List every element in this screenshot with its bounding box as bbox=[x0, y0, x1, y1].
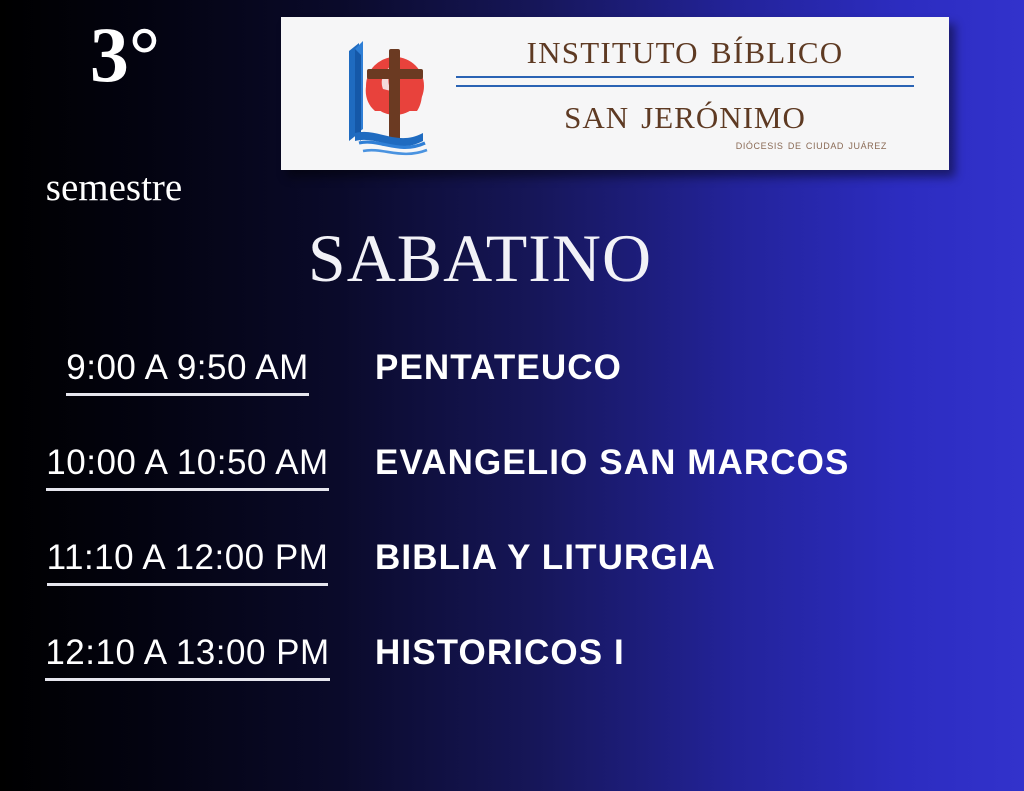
schedule-time-cell: 10:00 A 10:50 AM bbox=[0, 437, 375, 491]
schedule-time-text: 9:00 A 9:50 AM bbox=[66, 348, 308, 396]
schedule-list: 9:00 A 9:50 AM PENTATEUCO 10:00 A 10:50 … bbox=[0, 342, 1024, 722]
schedule-time-text: 11:10 A 12:00 PM bbox=[47, 538, 329, 586]
schedule-row: 9:00 A 9:50 AM PENTATEUCO bbox=[0, 342, 1024, 437]
schedule-time-cell: 12:10 A 13:00 PM bbox=[0, 627, 375, 681]
logo-subtitle-diocese: Diócesis de Ciudad Juárez bbox=[431, 137, 939, 153]
open-book-cross-flame-emblem bbox=[325, 29, 447, 161]
schedule-time-text: 10:00 A 10:50 AM bbox=[46, 443, 328, 491]
schedule-time-text: 12:10 A 13:00 PM bbox=[45, 633, 329, 681]
schedule-subject-cell: PENTATEUCO bbox=[375, 342, 1024, 388]
logo-text-block: Instituto Bíblico San Jerónimo Diócesis … bbox=[431, 23, 939, 166]
page-title: SABATINO bbox=[0, 224, 960, 292]
schedule-subject-cell: BIBLIA Y LITURGIA bbox=[375, 532, 1024, 578]
schedule-time-cell: 11:10 A 12:00 PM bbox=[0, 532, 375, 586]
schedule-row: 12:10 A 13:00 PM HISTORICOS I bbox=[0, 627, 1024, 722]
schedule-time-cell: 9:00 A 9:50 AM bbox=[0, 342, 375, 396]
semester-label: semestre bbox=[0, 168, 228, 207]
slide-canvas: 3° semestre Instit bbox=[0, 0, 1024, 791]
institute-logo-card: Instituto Bíblico San Jerónimo Diócesis … bbox=[281, 17, 949, 170]
logo-line-san-jeronimo: San Jerónimo bbox=[431, 89, 939, 139]
schedule-subject-cell: EVANGELIO SAN MARCOS bbox=[375, 437, 1024, 483]
semester-number: 3° bbox=[0, 16, 250, 94]
schedule-row: 10:00 A 10:50 AM EVANGELIO SAN MARCOS bbox=[0, 437, 1024, 532]
logo-line-instituto-biblico: Instituto Bíblico bbox=[431, 23, 939, 75]
schedule-subject-cell: HISTORICOS I bbox=[375, 627, 1024, 673]
logo-double-rule bbox=[456, 76, 913, 87]
schedule-row: 11:10 A 12:00 PM BIBLIA Y LITURGIA bbox=[0, 532, 1024, 627]
